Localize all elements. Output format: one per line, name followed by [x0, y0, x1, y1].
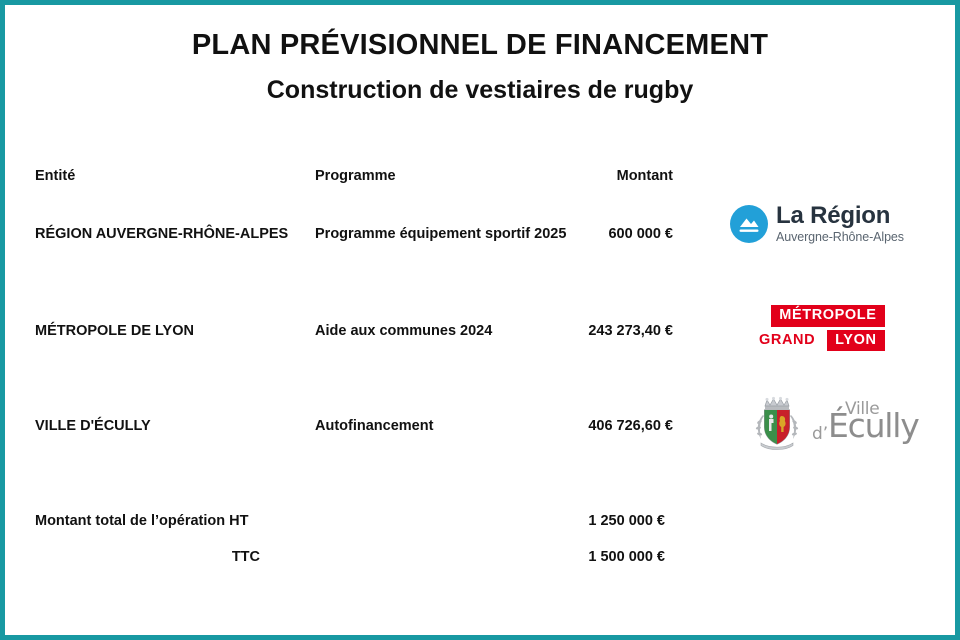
ecully-name-label: Écully [828, 409, 919, 442]
logo-la-region-auvergne-rhone-alpes: La Région Auvergne-Rhône-Alpes [730, 204, 904, 244]
total-label-ttc: TTC [35, 549, 260, 565]
metropole-grand-label: GRAND [751, 330, 823, 352]
logo-ville-ecully: Ville d’ Écully [751, 395, 916, 453]
metropole-label: MÉTROPOLE [771, 305, 884, 327]
row-amount-metropole: 243 273,40 € [415, 323, 673, 339]
row-entity-region: RÉGION AUVERGNE-RHÔNE-ALPES [35, 226, 288, 242]
metropole-lyon-label: LYON [827, 330, 884, 352]
column-header-amount: Montant [415, 168, 673, 184]
row-amount-region: 600 000 € [415, 226, 673, 242]
row-entity-ecully: VILLE D'ÉCULLY [35, 418, 151, 434]
totals-block: Montant total de l’opération HT 1 250 00… [35, 513, 935, 585]
page-subtitle: Construction de vestiaires de rugby [5, 75, 955, 106]
total-row-ht: Montant total de l’opération HT 1 250 00… [35, 513, 935, 549]
metropole-bottom-row: GRAND LYON [751, 330, 885, 352]
ecully-prefix-label: d’ [812, 424, 828, 444]
column-header-program: Programme [315, 168, 396, 184]
region-tagline: Auvergne-Rhône-Alpes [776, 231, 904, 244]
logo-metropole-grand-lyon: MÉTROPOLE GRAND LYON [751, 305, 885, 351]
total-label-ht: Montant total de l’opération HT [35, 513, 260, 529]
ecully-wordmark: Ville d’ Écully [812, 397, 916, 451]
slide: PLAN PRÉVISIONNEL DE FINANCEMENT Constru… [0, 0, 960, 640]
column-header-entity: Entité [35, 168, 75, 184]
ecully-coat-of-arms-icon [751, 395, 803, 453]
region-wordmark: La Région Auvergne-Rhône-Alpes [776, 204, 904, 244]
slide-content: PLAN PRÉVISIONNEL DE FINANCEMENT Constru… [5, 5, 955, 635]
row-amount-ecully: 406 726,60 € [415, 418, 673, 434]
total-value-ttc: 1 500 000 € [415, 549, 665, 565]
row-entity-metropole: MÉTROPOLE DE LYON [35, 323, 194, 339]
title-block: PLAN PRÉVISIONNEL DE FINANCEMENT Constru… [5, 27, 955, 107]
total-value-ht: 1 250 000 € [415, 513, 665, 529]
region-name: La Région [776, 204, 904, 228]
total-row-ttc: TTC 1 500 000 € [35, 549, 935, 585]
region-mountain-icon [730, 205, 768, 243]
page-title: PLAN PRÉVISIONNEL DE FINANCEMENT [5, 27, 955, 63]
